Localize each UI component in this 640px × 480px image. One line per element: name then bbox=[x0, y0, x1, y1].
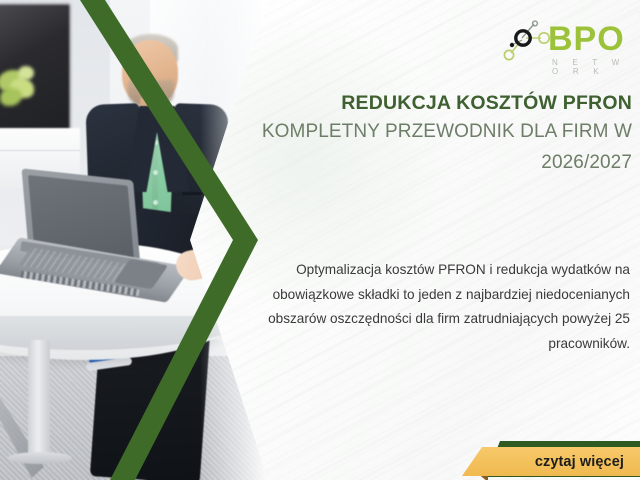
cta-label: czytaj więcej bbox=[462, 447, 630, 476]
headline-secondary: KOMPLETNY PRZEWODNIK DLA FIRM W bbox=[200, 117, 632, 146]
headline-primary: REDUKCJA KOSZTÓW PFRON bbox=[200, 92, 632, 115]
logo-tagline: N E T W O R K bbox=[552, 58, 640, 76]
promo-banner: BPO N E T W O R K REDUKCJA KOSZTÓW PFRON… bbox=[0, 0, 640, 480]
body-paragraph: Optymalizacja kosztów PFRON i redukcja w… bbox=[250, 258, 630, 357]
headline-years: 2026/2027 bbox=[200, 148, 632, 177]
read-more-button[interactable]: czytaj więcej bbox=[462, 436, 640, 480]
headline-block: REDUKCJA KOSZTÓW PFRON KOMPLETNY PRZEWOD… bbox=[200, 92, 632, 178]
bpo-network-logo[interactable]: BPO N E T W O R K bbox=[496, 18, 640, 74]
logo-wordmark: BPO bbox=[548, 22, 625, 56]
network-nodes-icon bbox=[500, 20, 552, 66]
